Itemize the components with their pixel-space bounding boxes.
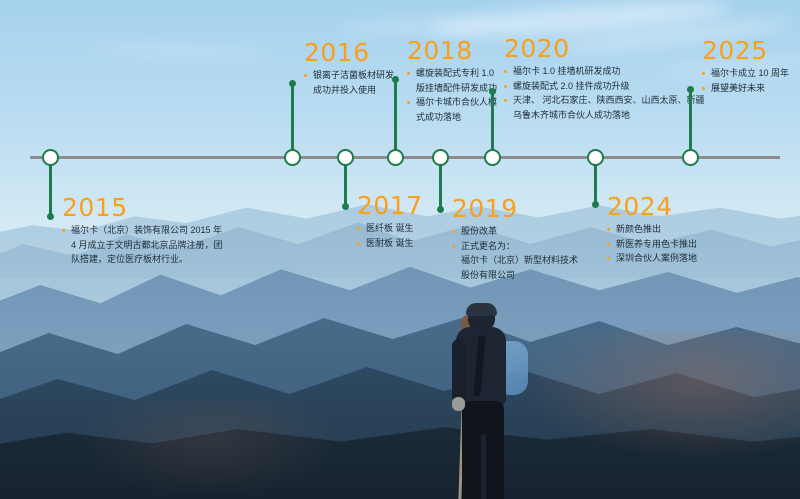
milestone-bullet: 螺旋装配式 2.0 挂件成功升级 (504, 80, 705, 94)
hiker-figure (430, 305, 560, 499)
milestone-year-label: 2015 (62, 195, 223, 220)
stem-endpoint-dot (437, 206, 444, 213)
milestone-bullet-list: 医纤板 诞生医耐板 诞生 (357, 222, 423, 250)
timeline-node-2017[interactable] (337, 149, 354, 166)
timeline-stem-2016 (291, 83, 294, 149)
milestone-bullet-list: 银离子洁菌板材研发成功并投入使用 (304, 69, 394, 97)
milestone-bullet-list: 福尔卡成立 10 周年展望美好未来 (702, 67, 789, 95)
stem-endpoint-dot (289, 80, 296, 87)
arm (452, 339, 466, 403)
milestone-year-label: 2020 (504, 36, 705, 61)
milestone-bullet-list: 福尔卡（北京）装饰有限公司 2015 年4 月成立于文明古都北京品牌注册，团队搭… (62, 224, 223, 267)
timeline-node-2015[interactable] (42, 149, 59, 166)
milestone-2019: 2019股份改革正式更名为：福尔卡（北京）新型材料技术股份有限公司 (452, 196, 578, 283)
milestone-bullet: 天津、 河北石家庄、陕西西安、山西太原、新疆 (504, 94, 705, 108)
stem-endpoint-dot (342, 203, 349, 210)
milestone-2016: 2016银离子洁菌板材研发成功并投入使用 (304, 40, 394, 98)
timeline-stem-2024 (594, 165, 597, 205)
milestone-2020: 2020福尔卡 1.0 挂墙机研发成功螺旋装配式 2.0 挂件成功升级天津、 河… (504, 36, 705, 123)
timeline-node-2016[interactable] (284, 149, 301, 166)
milestone-bullet: 福尔卡 1.0 挂墙机研发成功 (504, 65, 705, 79)
milestone-bullet: 成功并投入使用 (304, 84, 394, 98)
milestone-year-label: 2024 (607, 194, 697, 219)
stem-endpoint-dot (687, 86, 694, 93)
milestone-2024: 2024新颜色推出新医养专用色卡推出深圳合伙人案例落地 (607, 194, 697, 267)
milestone-bullet: 医纤板 诞生 (357, 222, 423, 236)
sunlight-glow (520, 330, 800, 460)
timeline-axis (30, 156, 780, 159)
milestone-2017: 2017医纤板 诞生医耐板 诞生 (357, 193, 423, 251)
timeline-stem-2025 (689, 89, 692, 149)
milestone-year-label: 2025 (702, 38, 789, 63)
stem-endpoint-dot (592, 201, 599, 208)
timeline-stem-2019 (439, 165, 442, 210)
milestone-bullet: 4 月成立于文明古都北京品牌注册，团 (62, 239, 223, 253)
milestone-year-label: 2019 (452, 196, 578, 221)
timeline-node-2024[interactable] (587, 149, 604, 166)
milestone-bullet: 乌鲁木齐城市合伙人成功落地 (504, 109, 705, 123)
milestone-bullet: 股份有限公司 (452, 269, 578, 283)
cap (466, 303, 497, 316)
timeline-node-2018[interactable] (387, 149, 404, 166)
milestone-bullet: 股份改革 (452, 225, 578, 239)
leg-gap (481, 435, 486, 499)
stem-endpoint-dot (392, 76, 399, 83)
milestone-2025: 2025福尔卡成立 10 周年展望美好未来 (702, 38, 789, 96)
sunlight-glow (80, 400, 340, 499)
milestone-bullet: 福尔卡城市合伙人模 (407, 96, 497, 110)
milestone-bullet: 福尔卡（北京）新型材料技术 (452, 254, 578, 268)
milestone-bullet-list: 新颜色推出新医养专用色卡推出深圳合伙人案例落地 (607, 223, 697, 266)
milestone-bullet: 队搭建，定位医疗板材行业。 (62, 253, 223, 267)
milestone-year-label: 2018 (407, 38, 497, 63)
timeline-infographic: 2015福尔卡（北京）装饰有限公司 2015 年4 月成立于文明古都北京品牌注册… (0, 0, 800, 499)
milestone-bullet-list: 福尔卡 1.0 挂墙机研发成功螺旋装配式 2.0 挂件成功升级天津、 河北石家庄… (504, 65, 705, 122)
timeline-stem-2015 (49, 165, 52, 217)
timeline-stem-2020 (491, 91, 494, 149)
milestone-bullet: 正式更名为： (452, 240, 578, 254)
milestone-2015: 2015福尔卡（北京）装饰有限公司 2015 年4 月成立于文明古都北京品牌注册… (62, 195, 223, 268)
milestone-bullet-list: 螺旋装配式专利 1.0版挂墙配件研发成功福尔卡城市合伙人模式成功落地 (407, 67, 497, 124)
milestone-bullet: 深圳合伙人案例落地 (607, 252, 697, 266)
milestone-bullet: 福尔卡成立 10 周年 (702, 67, 789, 81)
milestone-bullet: 新医养专用色卡推出 (607, 238, 697, 252)
stem-endpoint-dot (47, 213, 54, 220)
milestone-bullet-list: 股份改革正式更名为：福尔卡（北京）新型材料技术股份有限公司 (452, 225, 578, 282)
timeline-node-2025[interactable] (682, 149, 699, 166)
hand (452, 397, 465, 411)
milestone-bullet: 新颜色推出 (607, 223, 697, 237)
milestone-2018: 2018螺旋装配式专利 1.0版挂墙配件研发成功福尔卡城市合伙人模式成功落地 (407, 38, 497, 125)
milestone-bullet: 福尔卡（北京）装饰有限公司 2015 年 (62, 224, 223, 238)
stem-endpoint-dot (489, 88, 496, 95)
timeline-stem-2018 (394, 79, 397, 149)
milestone-bullet: 版挂墙配件研发成功 (407, 82, 497, 96)
timeline-node-2019[interactable] (432, 149, 449, 166)
milestone-year-label: 2016 (304, 40, 394, 65)
timeline-node-2020[interactable] (484, 149, 501, 166)
milestone-year-label: 2017 (357, 193, 423, 218)
timeline-stem-2017 (344, 165, 347, 207)
milestone-bullet: 螺旋装配式专利 1.0 (407, 67, 497, 81)
milestone-bullet: 展望美好未来 (702, 82, 789, 96)
milestone-bullet: 医耐板 诞生 (357, 237, 423, 251)
milestone-bullet: 银离子洁菌板材研发 (304, 69, 394, 83)
milestone-bullet: 式成功落地 (407, 111, 497, 125)
